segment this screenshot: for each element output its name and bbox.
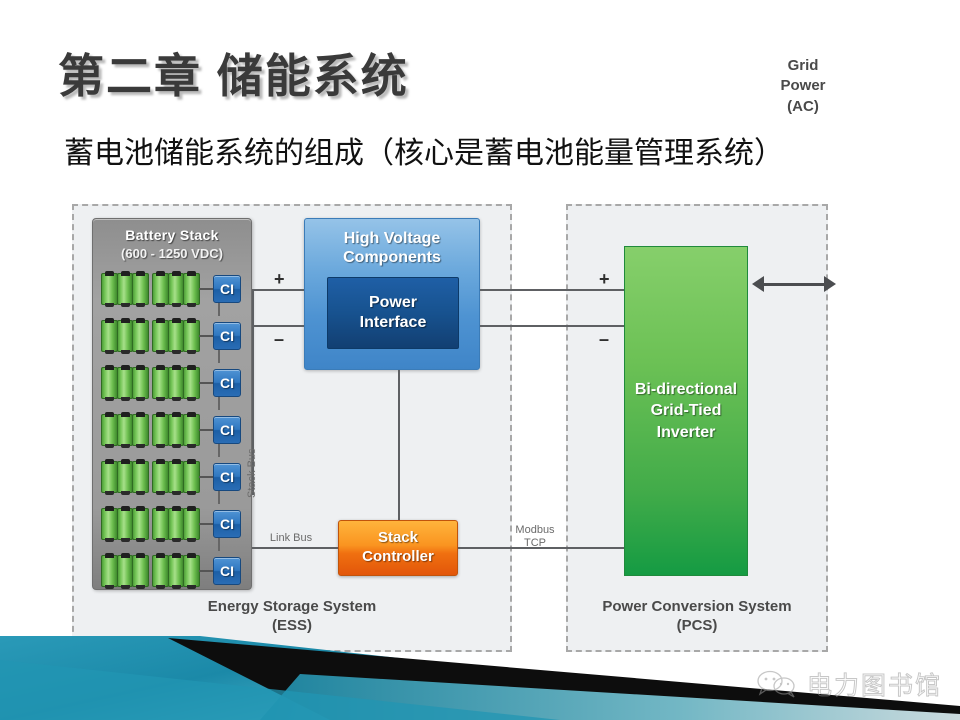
battery-cell [117,508,134,540]
grid-label-line1: Grid [788,57,819,74]
battery-cell [132,320,149,352]
battery-to-ci-wire [199,335,213,337]
battery-to-ci-wire [199,288,213,290]
power-interface-line1: Power [369,294,417,311]
battery-row: CI [101,504,247,544]
battery-row: CI [101,457,247,497]
battery-cell [101,367,118,399]
polarity-negative-right: – [599,330,609,348]
battery-cell [183,508,200,540]
battery-cell [101,273,118,305]
battery-cell [168,555,185,587]
ci-module: CI [213,463,241,491]
battery-row: CI [101,269,247,309]
battery-cell [117,555,134,587]
grid-label-line2: Power [780,77,825,94]
battery-row: CI [101,316,247,356]
battery-cell [117,367,134,399]
polarity-negative-left: – [274,330,284,348]
ci-module: CI [213,557,241,585]
wechat-glyph [755,669,799,699]
battery-cell [152,461,169,493]
grid-label-line3: (AC) [787,98,819,115]
power-interface-block: Power Interface [327,277,459,349]
battery-to-ci-wire [199,429,213,431]
battery-cell [168,414,185,446]
battery-cell [183,367,200,399]
battery-cell [132,273,149,305]
battery-row: CI [101,410,247,450]
ci-module: CI [213,275,241,303]
page-title: 第二章 储能系统 [58,40,409,106]
battery-cell-group [101,320,199,352]
battery-cell [117,273,134,305]
stack-controller-line1: Stack [378,529,418,546]
battery-cell [101,320,118,352]
battery-cell [152,273,169,305]
wechat-icon [755,669,799,699]
battery-cell [132,367,149,399]
battery-cell [152,320,169,352]
ci-module: CI [213,416,241,444]
battery-cell [183,414,200,446]
battery-cell [168,367,185,399]
battery-cell [132,508,149,540]
battery-cell [183,555,200,587]
arrow-head-right-icon [824,276,836,292]
battery-to-ci-wire [199,382,213,384]
dc-positive-wire-right [480,289,624,291]
battery-cell [101,461,118,493]
battery-cell [132,461,149,493]
battery-cell [132,414,149,446]
battery-cell [101,555,118,587]
battery-cell [132,555,149,587]
modbus-label-line1: Modbus [515,524,554,536]
battery-to-ci-wire [199,570,213,572]
ci-module: CI [213,369,241,397]
hvc-title-line2: Components [343,249,441,266]
battery-cell [117,320,134,352]
bottom-decoration [0,608,960,720]
stack-controller-block: Stack Controller [338,520,458,576]
battery-cell [168,273,185,305]
deco-shape [0,608,960,720]
grid-power-label: Grid Power (AC) [768,56,838,117]
battery-cell [101,508,118,540]
battery-cell [183,320,200,352]
battery-cell [183,273,200,305]
battery-row: CI [101,363,247,403]
battery-cell [117,461,134,493]
battery-stack-voltage: (600 - 1250 VDC) [93,246,251,261]
link-bus-label: Link Bus [256,532,326,545]
battery-cell [168,320,185,352]
battery-stack: Battery Stack (600 - 1250 VDC) CICICICIC… [92,218,252,590]
battery-cell-group [101,508,199,540]
polarity-positive-right: + [599,270,610,288]
stack-controller-line2: Controller [362,548,434,565]
battery-cell-group [101,273,199,305]
arrow-shaft [762,283,826,286]
ci-module: CI [213,510,241,538]
battery-cell [168,461,185,493]
grid-power-arrow [752,276,836,292]
stack-bus-label: Stack Bus [246,448,258,498]
high-voltage-components-block: High Voltage Components Power Interface [304,218,480,370]
ci-module: CI [213,322,241,350]
link-bus-wire [252,547,338,549]
watermark: 电力图书馆 [755,666,942,702]
battery-cell [168,508,185,540]
slide-canvas: 第二章 储能系统 蓄电池储能系统的组成（核心是蓄电池能量管理系统） Batter… [0,0,960,720]
dc-negative-wire-left [252,325,304,327]
battery-cell [101,414,118,446]
battery-cell [152,508,169,540]
inverter-line1: Bi-directional [635,381,737,398]
dc-positive-wire-left [252,289,304,291]
modbus-label-line2: TCP [524,537,546,549]
modbus-tcp-label: Modbus TCP [506,524,564,550]
battery-cell [152,555,169,587]
inverter-line2: Grid-Tied [651,402,722,419]
battery-cell-group [101,414,199,446]
hvc-title-line1: High Voltage [344,230,441,247]
battery-cell-group [101,367,199,399]
battery-cell-group [101,555,199,587]
watermark-text: 电力图书馆 [807,666,942,702]
page-subtitle: 蓄电池储能系统的组成（核心是蓄电池能量管理系统） [64,128,784,172]
battery-to-ci-wire [199,476,213,478]
polarity-positive-left: + [274,270,285,288]
ess-architecture-diagram: Battery Stack (600 - 1250 VDC) CICICICIC… [66,198,900,658]
battery-to-ci-wire [199,523,213,525]
battery-cell [152,414,169,446]
power-interface-line2: Interface [360,314,427,331]
bidirectional-inverter-block: Bi-directional Grid-Tied Inverter [624,246,748,576]
battery-cell [183,461,200,493]
battery-cell [117,414,134,446]
dc-negative-wire-right [480,325,624,327]
power-interface-to-controller-wire [398,370,400,520]
battery-cell-group [101,461,199,493]
inverter-line3: Inverter [657,424,716,441]
battery-stack-title: Battery Stack [93,227,251,243]
battery-row: CI [101,551,247,591]
battery-cell [152,367,169,399]
high-voltage-components-label: High Voltage Components [305,229,479,267]
